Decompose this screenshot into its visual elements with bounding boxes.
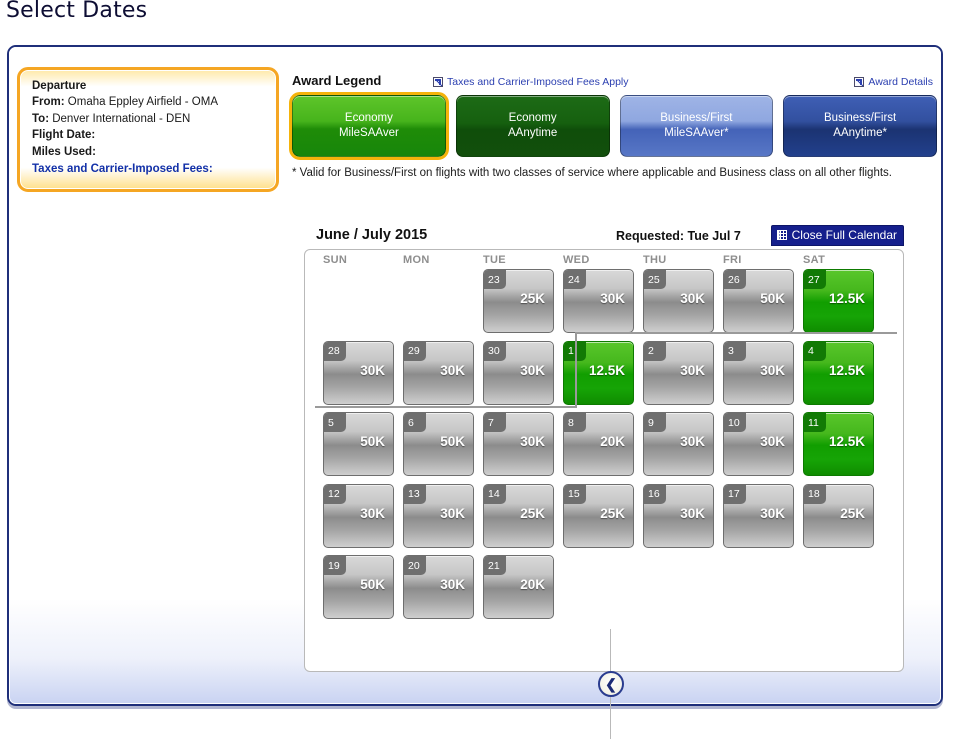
day-miles-price: 30K (680, 434, 705, 449)
day-number: 27 (804, 270, 826, 289)
day-number: 11 (804, 413, 826, 432)
award-legend-title: Award Legend (292, 73, 381, 88)
previous-week-button[interactable]: ❮ (598, 671, 624, 697)
day-number: 23 (484, 270, 506, 289)
calendar-grid: 2325K2430K2530K2650K2712.5K2830K2930K303… (305, 266, 903, 627)
dow-fri: FRI (723, 254, 803, 266)
day-number: 21 (484, 556, 506, 575)
day-number: 2 (644, 342, 666, 361)
day-number: 8 (564, 413, 586, 432)
day-number: 26 (724, 270, 746, 289)
calendar-cell: 230K (643, 341, 723, 413)
dow-thu: THU (643, 254, 723, 266)
day-miles-price: 30K (360, 506, 385, 521)
calendar-cell: 2650K (723, 269, 803, 341)
calendar-day-tile[interactable]: 412.5K (803, 341, 874, 405)
legend-button-line2: MileSAAver* (664, 126, 728, 141)
calendar-day-tile[interactable]: 1230K (323, 484, 394, 548)
dow-wed: WED (563, 254, 643, 266)
calendar-cell: 2325K (483, 269, 563, 341)
calendar-cell: 1950K (323, 555, 403, 627)
calendar-day-tile[interactable]: 330K (723, 341, 794, 405)
legend-button-line2: AAnytime (508, 126, 557, 141)
calendar-cell: 2430K (563, 269, 643, 341)
calendar-cell: 650K (403, 412, 483, 484)
day-miles-price: 30K (360, 363, 385, 378)
calendar-cell: 550K (323, 412, 403, 484)
close-full-calendar-button[interactable]: Close Full Calendar (771, 225, 904, 246)
day-number: 28 (324, 342, 346, 361)
legend-button-line2: MileSAAver (339, 126, 399, 141)
day-number: 15 (564, 485, 586, 504)
miles-used-label: Miles Used: (32, 146, 96, 158)
calendar-day-tile[interactable]: 1825K (803, 484, 874, 548)
day-miles-price: 25K (520, 291, 545, 306)
day-miles-price: 50K (760, 291, 785, 306)
day-miles-price: 30K (680, 506, 705, 521)
day-number: 6 (404, 413, 426, 432)
legend-button-business-first-milesaaver[interactable]: Business/First MileSAAver* (620, 95, 774, 157)
calendar-day-tile[interactable]: 2712.5K (803, 269, 874, 333)
day-number: 30 (484, 342, 506, 361)
award-details-link-label: Award Details (868, 76, 933, 88)
calendar-cell: 2930K (403, 341, 483, 413)
day-miles-price: 20K (600, 434, 625, 449)
calendar-day-tile[interactable]: 820K (563, 412, 634, 476)
calendar-day-tile[interactable]: 730K (483, 412, 554, 476)
day-miles-price: 30K (600, 291, 625, 306)
calendar-day-tile[interactable]: 2530K (643, 269, 714, 333)
day-number: 18 (804, 485, 826, 504)
calendar-day-tile[interactable]: 1730K (723, 484, 794, 548)
calendar-cell: 2120K (483, 555, 563, 627)
month-separator-july-top (575, 332, 897, 334)
day-number: 29 (404, 342, 426, 361)
calendar-cell: 1112.5K (803, 412, 883, 484)
day-miles-price: 30K (440, 577, 465, 592)
day-miles-price: 30K (760, 434, 785, 449)
day-number: 17 (724, 485, 746, 504)
calendar-month-label: June / July 2015 (316, 227, 427, 243)
legend-button-line2: AAnytime* (833, 126, 887, 141)
day-miles-price: 20K (520, 577, 545, 592)
calendar-cell: 1330K (403, 484, 483, 556)
calendar-cell (803, 555, 883, 627)
calendar-day-tile[interactable]: 930K (643, 412, 714, 476)
calendar-cell: 2712.5K (803, 269, 883, 341)
calendar-cell: 2530K (643, 269, 723, 341)
calendar-day-tile[interactable]: 3030K (483, 341, 554, 405)
select-dates-panel: Departure From: Omaha Eppley Airfield - … (7, 45, 943, 706)
page-title: Select Dates (6, 0, 147, 23)
flight-date-label: Flight Date: (32, 129, 95, 141)
legend-button-line1: Economy (509, 111, 557, 126)
day-miles-price: 50K (360, 434, 385, 449)
calendar-week-row: 1230K1330K1425K1525K1630K1730K1825K (323, 484, 903, 556)
departure-summary-card: Departure From: Omaha Eppley Airfield - … (17, 67, 279, 192)
calendar-cell: 412.5K (803, 341, 883, 413)
day-miles-price: 12.5K (829, 291, 865, 306)
calendar-day-tile[interactable]: 2030K (403, 555, 474, 619)
calendar-day-tile[interactable]: 2930K (403, 341, 474, 405)
day-number: 24 (564, 270, 586, 289)
flight-date-row: Flight Date: (32, 127, 266, 143)
day-miles-price: 12.5K (829, 363, 865, 378)
calendar-cell: 820K (563, 412, 643, 484)
calendar-day-tile[interactable]: 2430K (563, 269, 634, 333)
calendar-cell (403, 269, 483, 341)
calendar-cell: 1030K (723, 412, 803, 484)
calendar-cell: 2830K (323, 341, 403, 413)
legend-button-business-first-aanytime[interactable]: Business/First AAnytime* (783, 95, 937, 157)
day-number: 4 (804, 342, 826, 361)
award-legend-buttons: Economy MileSAAver Economy AAnytime Busi… (292, 95, 937, 157)
day-number: 3 (724, 342, 746, 361)
day-miles-price: 30K (440, 363, 465, 378)
day-number: 13 (404, 485, 426, 504)
day-miles-price: 30K (680, 291, 705, 306)
calendar-cell: 1525K (563, 484, 643, 556)
day-miles-price: 30K (520, 434, 545, 449)
calendar-week-row: 2830K2930K3030K112.5K230K330K412.5K (323, 341, 903, 413)
day-miles-price: 12.5K (589, 363, 625, 378)
calendar-day-tile[interactable]: 2650K (723, 269, 794, 333)
calendar-cell: 1425K (483, 484, 563, 556)
calendar-cell: 730K (483, 412, 563, 484)
day-number: 7 (484, 413, 506, 432)
day-number: 14 (484, 485, 506, 504)
calendar-cell: 3030K (483, 341, 563, 413)
calendar-cell: 2030K (403, 555, 483, 627)
day-number: 16 (644, 485, 666, 504)
miles-used-row: Miles Used: (32, 144, 266, 160)
departure-fees-label: Taxes and Carrier-Imposed Fees: (32, 161, 266, 177)
calendar-day-tile[interactable]: 1630K (643, 484, 714, 548)
calendar-day-tile[interactable]: 1950K (323, 555, 394, 619)
calendar-day-tile[interactable]: 1425K (483, 484, 554, 548)
calendar-cell (723, 555, 803, 627)
legend-button-economy-milesaaver[interactable]: Economy MileSAAver (292, 95, 446, 157)
departure-heading: Departure (32, 78, 266, 94)
day-miles-price: 30K (680, 363, 705, 378)
calendar-week-row: 2325K2430K2530K2650K2712.5K (323, 269, 903, 341)
day-number: 19 (324, 556, 346, 575)
day-number: 25 (644, 270, 666, 289)
award-legend-footnote: * Valid for Business/First on flights wi… (292, 165, 922, 181)
day-miles-price: 50K (440, 434, 465, 449)
calendar-cell: 1230K (323, 484, 403, 556)
chevron-left-icon: ❮ (605, 677, 617, 691)
calendar-day-tile[interactable]: 1525K (563, 484, 634, 548)
month-separator-july-left (575, 332, 577, 408)
day-miles-price: 25K (840, 506, 865, 521)
calendar-cell: 930K (643, 412, 723, 484)
taxes-and-fees-link[interactable]: Taxes and Carrier-Imposed Fees Apply (433, 76, 629, 88)
award-legend-header: Award Legend Taxes and Carrier-Imposed F… (292, 73, 937, 93)
month-separator-june-bottom (315, 406, 577, 408)
day-miles-price: 50K (360, 577, 385, 592)
calendar-body: SUN MON TUE WED THU FRI SAT 2325K2430K25… (304, 249, 904, 672)
day-miles-price: 30K (760, 363, 785, 378)
day-number: 9 (644, 413, 666, 432)
day-number: 10 (724, 413, 746, 432)
legend-button-line1: Business/First (824, 111, 896, 126)
calendar-requested-label: Requested: Tue Jul 7 (616, 229, 741, 243)
calendar-cell: 1730K (723, 484, 803, 556)
day-miles-price: 25K (520, 506, 545, 521)
calendar-day-tile[interactable]: 550K (323, 412, 394, 476)
calendar-day-tile[interactable]: 650K (403, 412, 474, 476)
calendar-day-tile[interactable]: 112.5K (563, 341, 634, 405)
legend-button-line1: Economy (345, 111, 393, 126)
day-miles-price: 25K (600, 506, 625, 521)
award-details-link[interactable]: Award Details (854, 76, 933, 88)
calendar-week-row: 1950K2030K2120K (323, 555, 903, 627)
calendar-cell (643, 555, 723, 627)
popup-window-icon (854, 77, 864, 87)
day-number: 5 (324, 413, 346, 432)
calendar-day-tile[interactable]: 2120K (483, 555, 554, 619)
day-miles-price: 30K (520, 363, 545, 378)
dow-mon: MON (403, 254, 483, 266)
legend-button-economy-aanytime[interactable]: Economy AAnytime (456, 95, 610, 157)
departure-to-label: To: (32, 113, 49, 125)
close-full-calendar-label: Close Full Calendar (792, 228, 897, 242)
day-miles-price: 12.5K (829, 434, 865, 449)
calendar-cell: 330K (723, 341, 803, 413)
departure-to-value: Denver International - DEN (52, 113, 190, 125)
departure-from-label: From: (32, 96, 65, 108)
calendar-cell (323, 269, 403, 341)
calendar-cell: 1630K (643, 484, 723, 556)
calendar-cell (563, 555, 643, 627)
day-miles-price: 30K (440, 506, 465, 521)
calendar-day-of-week-header: SUN MON TUE WED THU FRI SAT (305, 250, 903, 266)
full-calendar: June / July 2015 Requested: Tue Jul 7 Cl… (304, 227, 904, 672)
departure-from-row: From: Omaha Eppley Airfield - OMA (32, 94, 266, 110)
calendar-day-tile[interactable]: 1030K (723, 412, 794, 476)
departure-from-value: Omaha Eppley Airfield - OMA (68, 96, 218, 108)
award-legend: Award Legend Taxes and Carrier-Imposed F… (292, 73, 937, 181)
calendar-day-tile[interactable]: 2325K (483, 269, 554, 333)
calendar-day-tile[interactable]: 230K (643, 341, 714, 405)
dow-sat: SAT (803, 254, 883, 266)
legend-button-line1: Business/First (660, 111, 732, 126)
day-number: 12 (324, 485, 346, 504)
grid-icon (777, 230, 787, 240)
dow-sun: SUN (323, 254, 403, 266)
calendar-day-tile[interactable]: 1330K (403, 484, 474, 548)
departure-to-row: To: Denver International - DEN (32, 111, 266, 127)
day-miles-price: 30K (760, 506, 785, 521)
calendar-week-row: 550K650K730K820K930K1030K1112.5K (323, 412, 903, 484)
calendar-header: June / July 2015 Requested: Tue Jul 7 Cl… (304, 227, 904, 249)
calendar-day-tile[interactable]: 2830K (323, 341, 394, 405)
calendar-day-tile[interactable]: 1112.5K (803, 412, 874, 476)
dow-tue: TUE (483, 254, 563, 266)
popup-window-icon (433, 77, 443, 87)
calendar-cell: 1825K (803, 484, 883, 556)
day-number: 20 (404, 556, 426, 575)
taxes-and-fees-link-label: Taxes and Carrier-Imposed Fees Apply (447, 76, 629, 88)
